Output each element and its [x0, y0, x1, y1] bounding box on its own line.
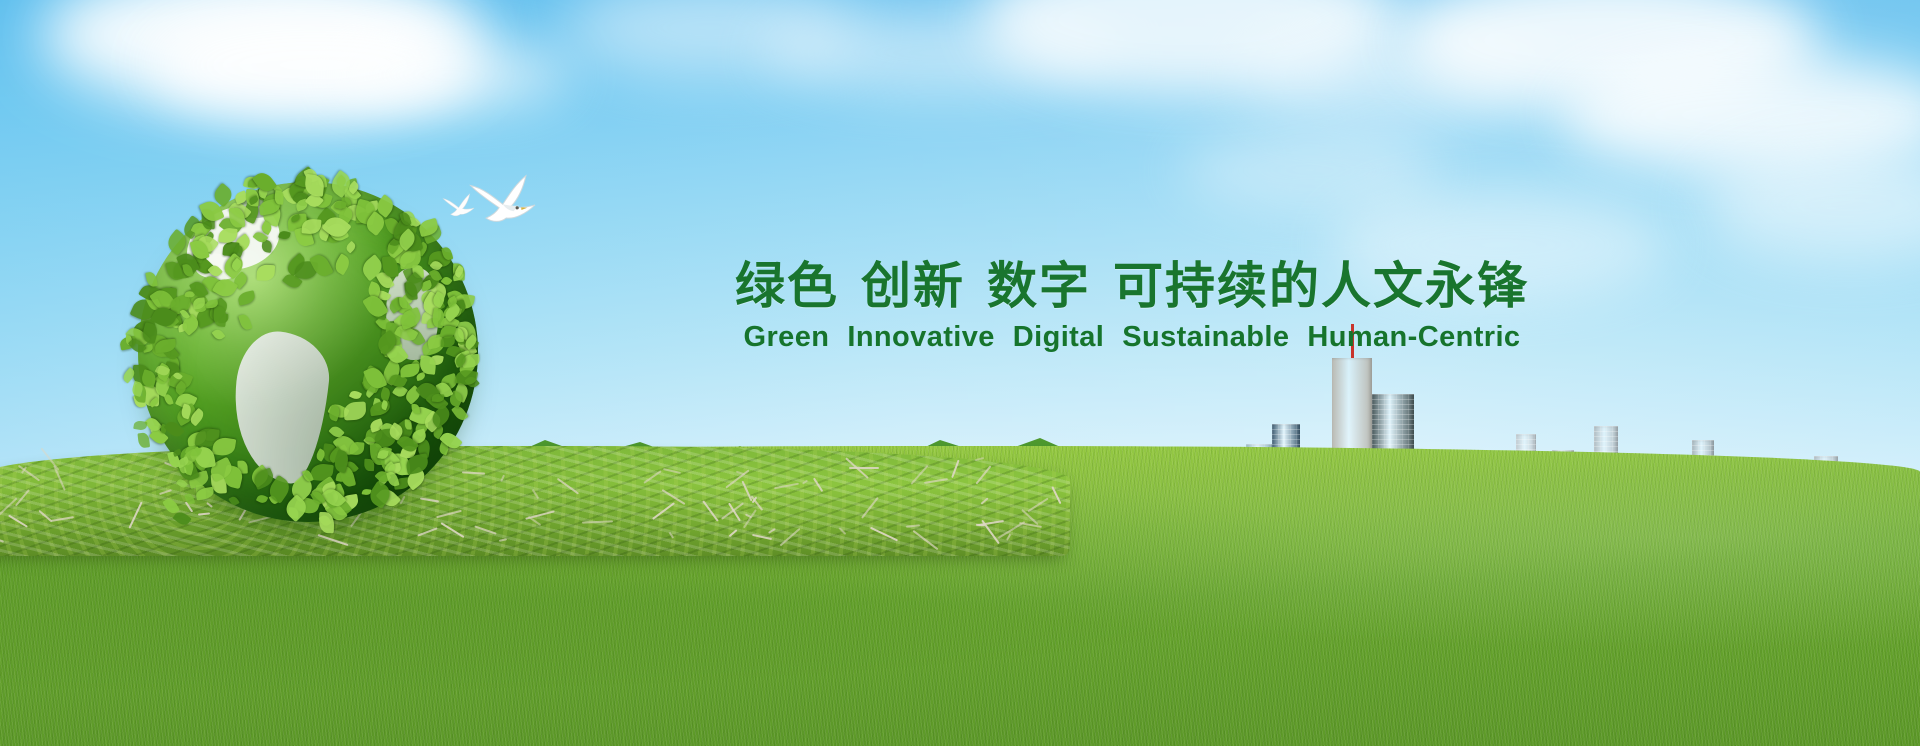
- subheadline-word: Green: [744, 321, 830, 354]
- ivy-leaf: [237, 313, 252, 332]
- headline-word: 创新: [861, 258, 965, 314]
- ivy-leaf: [405, 419, 412, 429]
- ivy-leaf: [278, 230, 290, 240]
- ivy-leaf: [332, 253, 353, 275]
- ivy-leaf: [364, 459, 374, 472]
- ivy-leaf: [344, 401, 367, 420]
- cloud: [1180, 130, 1440, 210]
- ivy-globe: [138, 182, 478, 522]
- subheadline-word: Digital: [1013, 321, 1104, 354]
- ivy-leaf: [412, 404, 421, 414]
- headline-block: 绿色创新数字可持续的人文永锋 GreenInnovativeDigitalSus…: [672, 258, 1592, 354]
- ivy-leaf: [256, 493, 269, 505]
- ivy-leaf: [399, 297, 407, 308]
- eco-banner: 绿色创新数字可持续的人文永锋 GreenInnovativeDigitalSus…: [0, 0, 1920, 746]
- subheadline-word: Sustainable: [1122, 321, 1289, 354]
- vine-twig: [849, 467, 879, 469]
- falling-ivy-leaf: [137, 432, 149, 448]
- page-title: 绿色创新数字可持续的人文永锋: [672, 258, 1592, 314]
- ivy-leaf: [257, 265, 275, 282]
- page-subtitle: GreenInnovativeDigitalSustainableHuman-C…: [672, 321, 1592, 354]
- ivy-leaf: [432, 393, 444, 402]
- subheadline-word: Human-Centric: [1307, 321, 1520, 354]
- subheadline-word: Innovative: [847, 321, 994, 354]
- cloud: [330, 40, 570, 110]
- headline-word: 可持续的人文永锋: [1113, 258, 1529, 314]
- falling-ivy-leaf: [184, 492, 195, 505]
- ivy-leaf: [349, 441, 364, 455]
- ivy-leaf: [349, 389, 362, 401]
- ivy-leaf: [451, 404, 469, 423]
- ivy-leaf: [274, 190, 284, 205]
- ivy-leaf: [345, 240, 358, 253]
- globe-ivy-leaves: [134, 178, 482, 526]
- ivy-leaf: [212, 328, 226, 342]
- ivy-leaf: [228, 495, 239, 507]
- ivy-leaf: [236, 290, 255, 305]
- headline-word: 数字: [987, 258, 1091, 314]
- headline-word: 绿色: [735, 258, 839, 314]
